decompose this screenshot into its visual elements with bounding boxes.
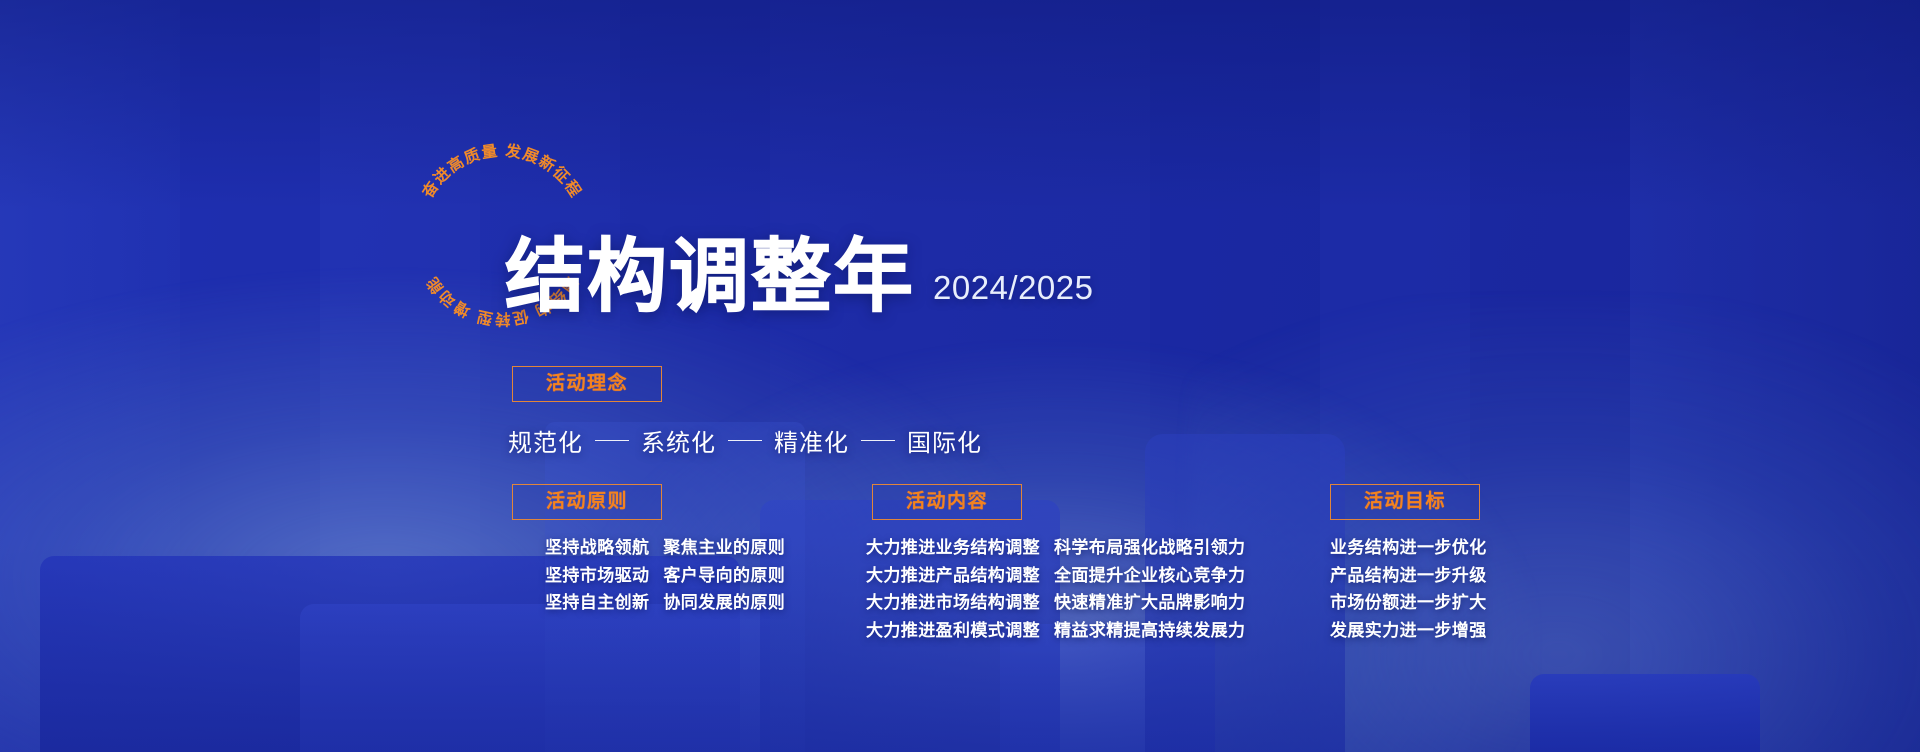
seal-top-label: 奋进高质量 发展新征程 — [417, 141, 585, 202]
goal-row-1: 产品结构进一步升级 — [1330, 562, 1487, 590]
goal-row-3: 发展实力进一步增强 — [1330, 617, 1487, 645]
concept-separator-icon — [861, 440, 895, 442]
principle-row-2-b: 协同发展的原则 — [663, 589, 785, 617]
badge-activity-goal[interactable]: 活动目标 — [1330, 484, 1480, 520]
list-item: 大力推进业务结构调整 科学布局强化战略引领力 — [866, 534, 1245, 562]
goal-row-2: 市场份额进一步扩大 — [1330, 589, 1487, 617]
content-row-0-a: 大力推进业务结构调整 — [866, 534, 1040, 562]
banner-root: 奋进高质量 发展新征程 调结构 促转型 增动能 结构调整年 2024/2025 … — [0, 0, 1920, 752]
concept-item-2: 精准化 — [774, 423, 849, 458]
principle-row-2-a: 坚持自主创新 — [545, 589, 649, 617]
badge-activity-principle-label: 活动原则 — [546, 491, 628, 514]
concept-separator-icon — [728, 440, 762, 442]
list-item: 发展实力进一步增强 — [1330, 617, 1487, 645]
concept-keywords: 规范化 系统化 精准化 国际化 — [508, 423, 982, 458]
list-item: 坚持市场驱动 客户导向的原则 — [545, 562, 785, 590]
list-item: 坚持自主创新 协同发展的原则 — [545, 589, 785, 617]
principle-list: 坚持战略领航 聚焦主业的原则 坚持市场驱动 客户导向的原则 坚持自主创新 协同发… — [545, 534, 785, 617]
principle-row-1-a: 坚持市场驱动 — [545, 562, 649, 590]
content-row-1-b: 全面提升企业核心竞争力 — [1054, 562, 1245, 590]
list-item: 市场份额进一步扩大 — [1330, 589, 1487, 617]
concept-item-1: 系统化 — [641, 423, 716, 458]
goal-row-0: 业务结构进一步优化 — [1330, 534, 1487, 562]
list-item: 大力推进盈利模式调整 精益求精提高持续发展力 — [866, 617, 1245, 645]
content-list: 大力推进业务结构调整 科学布局强化战略引领力 大力推进产品结构调整 全面提升企业… — [866, 534, 1245, 644]
list-item: 产品结构进一步升级 — [1330, 562, 1487, 590]
principle-row-1-b: 客户导向的原则 — [663, 562, 785, 590]
concept-separator-icon — [595, 440, 629, 442]
badge-activity-concept[interactable]: 活动理念 — [512, 366, 662, 402]
concept-item-0: 规范化 — [508, 423, 583, 458]
seal-text-top: 奋进高质量 发展新征程 — [417, 141, 585, 202]
list-item: 大力推进产品结构调整 全面提升企业核心竞争力 — [866, 562, 1245, 590]
goal-list: 业务结构进一步优化 产品结构进一步升级 市场份额进一步扩大 发展实力进一步增强 — [1330, 534, 1487, 644]
list-item: 业务结构进一步优化 — [1330, 534, 1487, 562]
year-range: 2024/2025 — [933, 269, 1094, 315]
content-row-0-b: 科学布局强化战略引领力 — [1054, 534, 1245, 562]
badge-activity-content-label: 活动内容 — [906, 491, 988, 514]
content-row-2-a: 大力推进市场结构调整 — [866, 589, 1040, 617]
badge-activity-content[interactable]: 活动内容 — [872, 484, 1022, 520]
badge-activity-goal-label: 活动目标 — [1364, 491, 1446, 514]
content-row-1-a: 大力推进产品结构调整 — [866, 562, 1040, 590]
content-row-2-b: 快速精准扩大品牌影响力 — [1054, 589, 1245, 617]
principle-row-0-a: 坚持战略领航 — [545, 534, 649, 562]
content-row-3-b: 精益求精提高持续发展力 — [1054, 617, 1245, 645]
badge-activity-concept-label: 活动理念 — [546, 373, 628, 396]
page-title: 结构调整年 — [505, 239, 915, 315]
badge-activity-principle[interactable]: 活动原则 — [512, 484, 662, 520]
content-row-3-a: 大力推进盈利模式调整 — [866, 617, 1040, 645]
concept-item-3: 国际化 — [907, 423, 982, 458]
principle-row-0-b: 聚焦主业的原则 — [663, 534, 785, 562]
list-item: 坚持战略领航 聚焦主业的原则 — [545, 534, 785, 562]
list-item: 大力推进市场结构调整 快速精准扩大品牌影响力 — [866, 589, 1245, 617]
title-row: 结构调整年 2024/2025 — [505, 239, 1094, 315]
